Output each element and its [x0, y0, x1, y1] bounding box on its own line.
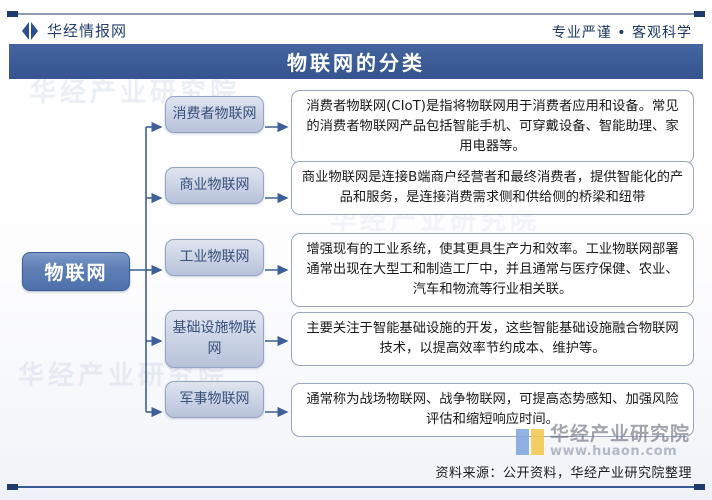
- root-node-iot[interactable]: 物联网: [22, 252, 130, 291]
- brand: 华经情报网: [22, 20, 127, 41]
- description-box-military-iot: 通常称为战场物联网、战争物联网，可提高态势感知、加强风险评估和缩短响应时间。: [291, 383, 694, 437]
- page-title: 物联网的分类: [287, 47, 425, 76]
- brand-name: 华经情报网: [47, 20, 127, 41]
- category-box-infrastructure-iot[interactable]: 基础设施物联网: [165, 310, 264, 368]
- bottom-divider: [8, 486, 704, 488]
- classification-diagram: 物联网 消费者物联网 消费者物联网(CIoT)是指将物联网用于消费者应用和设备。…: [0, 82, 712, 452]
- bottom-divider-cap-left: [7, 484, 18, 490]
- category-box-military-iot[interactable]: 军事物联网: [165, 381, 264, 418]
- top-divider: [8, 13, 704, 15]
- branch-row: 消费者物联网: [165, 96, 264, 133]
- category-box-industrial-iot[interactable]: 工业物联网: [165, 239, 264, 276]
- category-box-commercial-iot[interactable]: 商业物联网: [165, 167, 264, 204]
- brand-slogan: 专业严谨 • 客观科学: [552, 22, 692, 42]
- branch-row: 商业物联网: [165, 167, 264, 204]
- top-divider-cap-left: [7, 11, 18, 17]
- root-node-label: 物联网: [44, 258, 107, 285]
- description-box-commercial-iot: 商业物联网是连接B端商户经营者和最终消费者，提供智能化的产品和服务，是连接消费需…: [291, 161, 694, 215]
- branch-row: 军事物联网: [165, 381, 264, 418]
- description-box-industrial-iot: 增强现有的工业系统，使其更具生产力和效率。工业物联网部署通常出现在大型工和制造工…: [291, 233, 694, 307]
- double-triangle-logo-icon: [22, 22, 38, 40]
- description-box-infrastructure-iot: 主要关注于智能基础设施的开发，这些智能基础设施融合物联网技术，以提高效率节约成本…: [291, 312, 694, 366]
- infographic-page: 华经情报网 专业严谨 • 客观科学 物联网的分类 华经产业研究院 华经产业研究院…: [0, 0, 712, 500]
- top-divider-cap-right: [694, 11, 705, 17]
- bottom-divider-cap-right: [694, 484, 705, 490]
- description-box-consumer-iot: 消费者物联网(CIoT)是指将物联网用于消费者应用和设备。常见的消费者物联网产品…: [291, 90, 694, 164]
- page-title-bar: 物联网的分类: [9, 44, 703, 79]
- source-note: 资料来源：公开资料，华经产业研究院整理: [435, 462, 692, 481]
- branch-row: 基础设施物联网: [165, 310, 264, 368]
- branch-row: 工业物联网: [165, 239, 264, 276]
- category-box-consumer-iot[interactable]: 消费者物联网: [165, 96, 264, 133]
